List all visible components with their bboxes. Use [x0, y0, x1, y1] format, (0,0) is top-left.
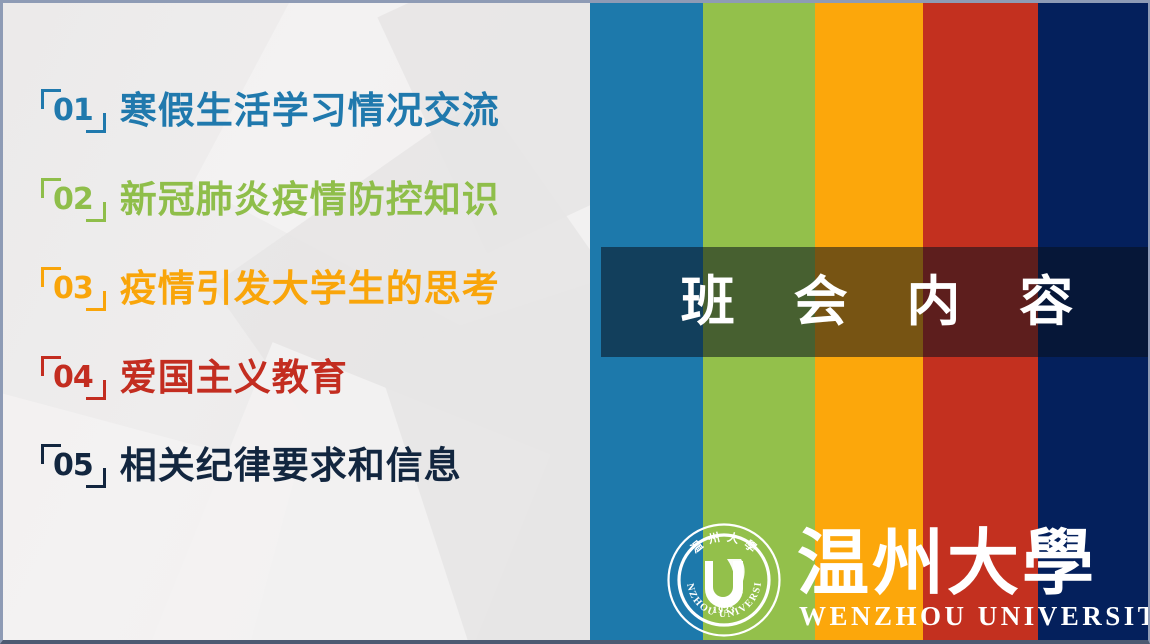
- agenda-number-badge-04: 04: [41, 356, 106, 400]
- agenda-label-04: 爱国主义教育: [120, 358, 348, 398]
- left-content-panel: 01 寒假生活学习情况交流 02 新冠肺炎疫情防控知识 03 疫情引发大学生的思…: [3, 3, 590, 644]
- agenda-number-02: 02: [53, 185, 93, 215]
- agenda-number-01: 01: [53, 96, 93, 126]
- agenda-number-05: 05: [53, 451, 93, 481]
- logo-wordmark: 温州大學 WENZHOU UNIVERSITY: [797, 521, 1150, 631]
- page-title: 班 会 内 容: [661, 272, 1093, 332]
- agenda-number-badge-02: 02: [41, 178, 106, 222]
- university-logo: 温 州 大 學 WENZHOU UNIVERSITY 1933 温州大學 WEN…: [665, 521, 1150, 643]
- agenda-number-badge-05: 05: [41, 444, 106, 488]
- agenda-label-01: 寒假生活学习情况交流: [120, 91, 500, 131]
- agenda-item-01[interactable]: 01 寒假生活学习情况交流: [41, 89, 500, 133]
- agenda-label-02: 新冠肺炎疫情防控知识: [120, 180, 500, 220]
- university-seal-icon: 温 州 大 學 WENZHOU UNIVERSITY 1933: [665, 521, 783, 639]
- agenda-label-05: 相关纪律要求和信息: [120, 446, 462, 486]
- agenda-list: 01 寒假生活学习情况交流 02 新冠肺炎疫情防控知识 03 疫情引发大学生的思…: [3, 3, 590, 644]
- agenda-number-badge-03: 03: [41, 267, 106, 311]
- agenda-number-badge-01: 01: [41, 89, 106, 133]
- title-band: 班 会 内 容: [601, 247, 1150, 357]
- slide-canvas: 01 寒假生活学习情况交流 02 新冠肺炎疫情防控知识 03 疫情引发大学生的思…: [0, 0, 1150, 644]
- seal-svg: 温 州 大 學 WENZHOU UNIVERSITY 1933: [665, 521, 783, 639]
- svg-text:1933: 1933: [713, 606, 736, 616]
- agenda-label-03: 疫情引发大学生的思考: [120, 269, 500, 309]
- svg-text:温 州 大 學: 温 州 大 學: [688, 530, 760, 556]
- logo-wordmark-en: WENZHOU UNIVERSITY: [799, 601, 1150, 631]
- agenda-item-02[interactable]: 02 新冠肺炎疫情防控知识: [41, 178, 500, 222]
- logo-wordmark-cn: 温州大學: [797, 523, 1150, 603]
- agenda-item-03[interactable]: 03 疫情引发大学生的思考: [41, 267, 500, 311]
- agenda-number-04: 04: [53, 363, 93, 393]
- agenda-item-05[interactable]: 05 相关纪律要求和信息: [41, 444, 462, 488]
- agenda-number-03: 03: [53, 274, 93, 304]
- agenda-item-04[interactable]: 04 爱国主义教育: [41, 356, 348, 400]
